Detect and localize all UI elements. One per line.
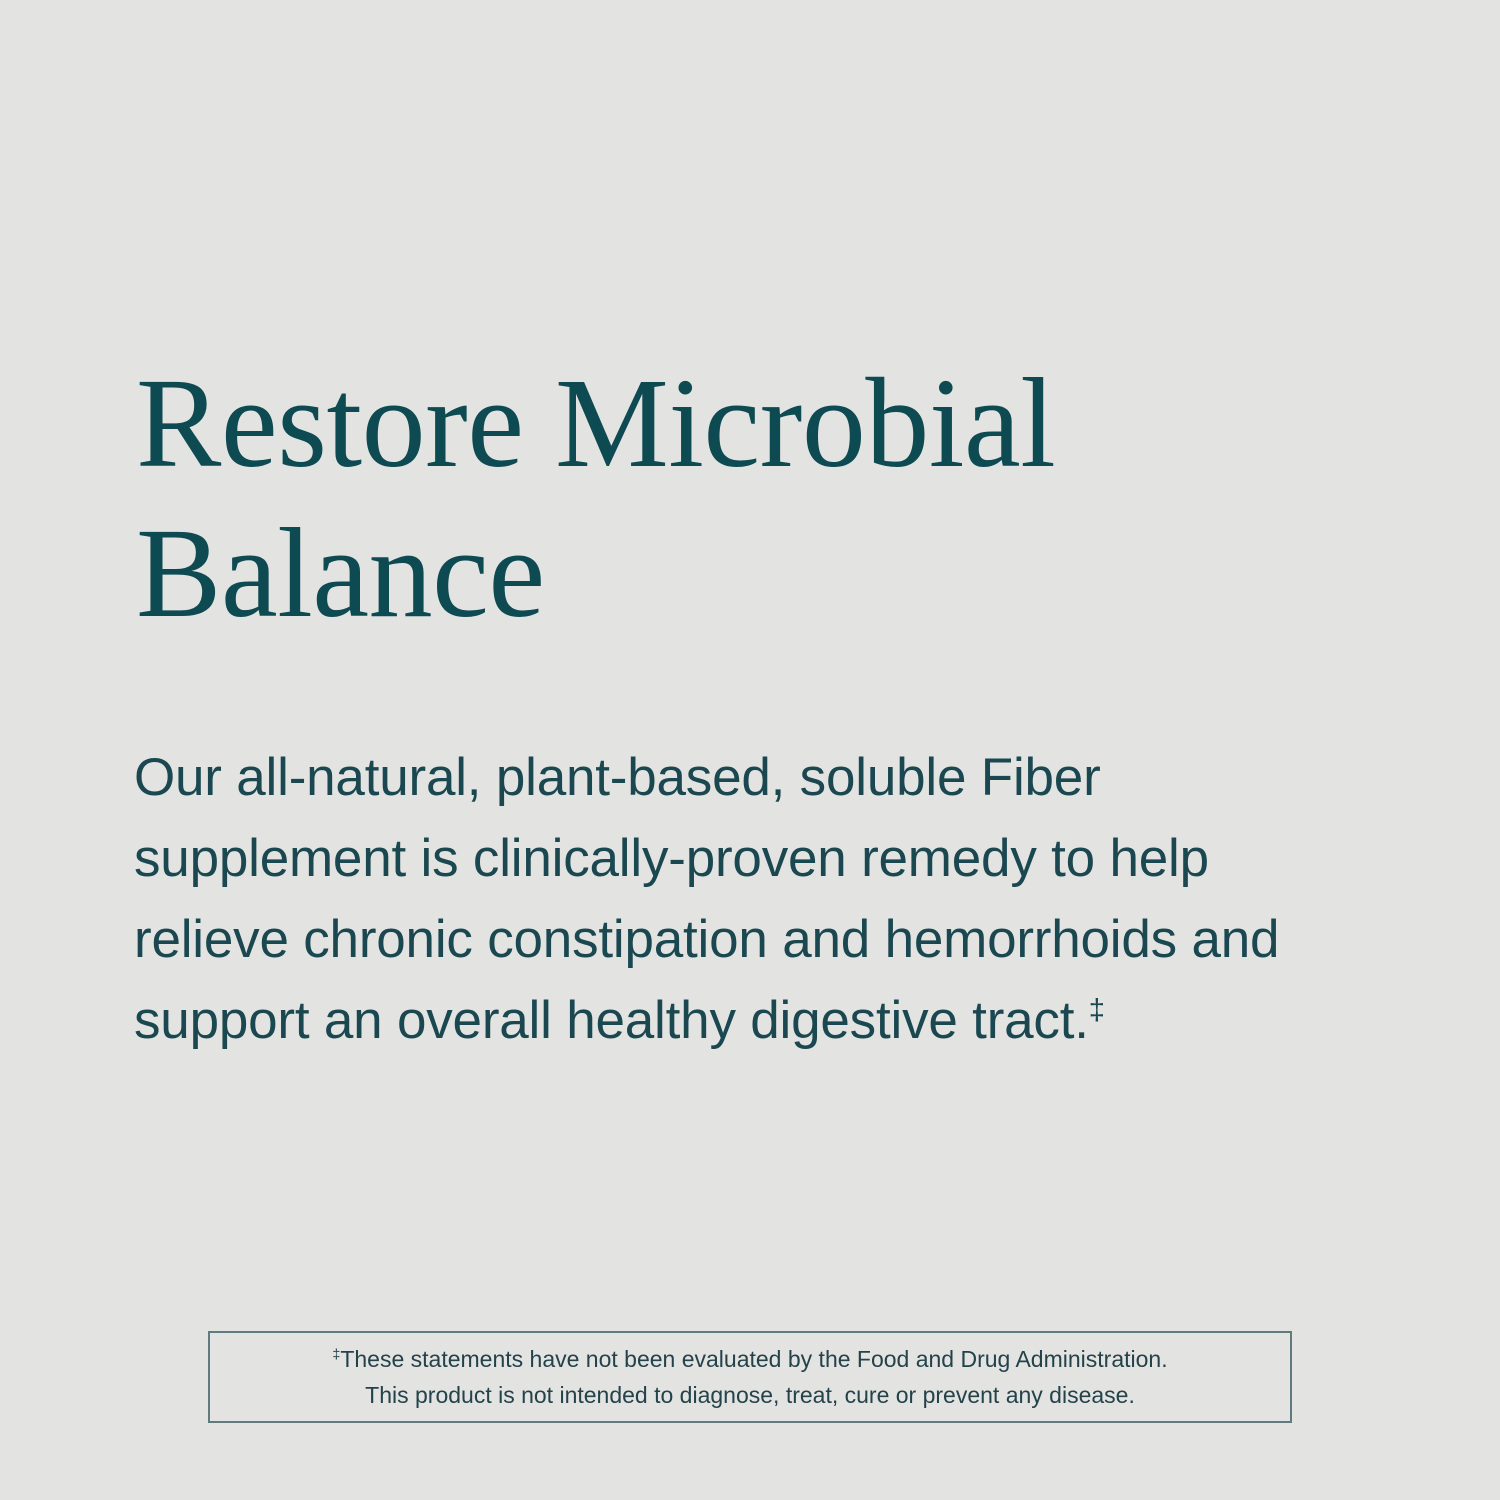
disclaimer-line-1-text: These statements have not been evaluated… bbox=[340, 1346, 1167, 1372]
page-title: Restore MicrobialBalance bbox=[136, 348, 1236, 648]
disclaimer-line-2: This product is not intended to diagnose… bbox=[365, 1377, 1135, 1413]
product-claim-card: Restore MicrobialBalance Our all-natural… bbox=[0, 0, 1500, 1500]
headline-line-2: Balance bbox=[136, 502, 545, 644]
headline-line-1: Restore Microbial bbox=[136, 352, 1055, 494]
footnote-marker-icon: ‡ bbox=[1089, 994, 1105, 1026]
fda-disclaimer-box: ‡These statements have not been evaluate… bbox=[208, 1331, 1292, 1423]
product-description: Our all-natural, plant-based, soluble Fi… bbox=[134, 737, 1364, 1061]
product-description-text: Our all-natural, plant-based, soluble Fi… bbox=[134, 748, 1279, 1050]
disclaimer-line-1: ‡These statements have not been evaluate… bbox=[332, 1341, 1167, 1377]
